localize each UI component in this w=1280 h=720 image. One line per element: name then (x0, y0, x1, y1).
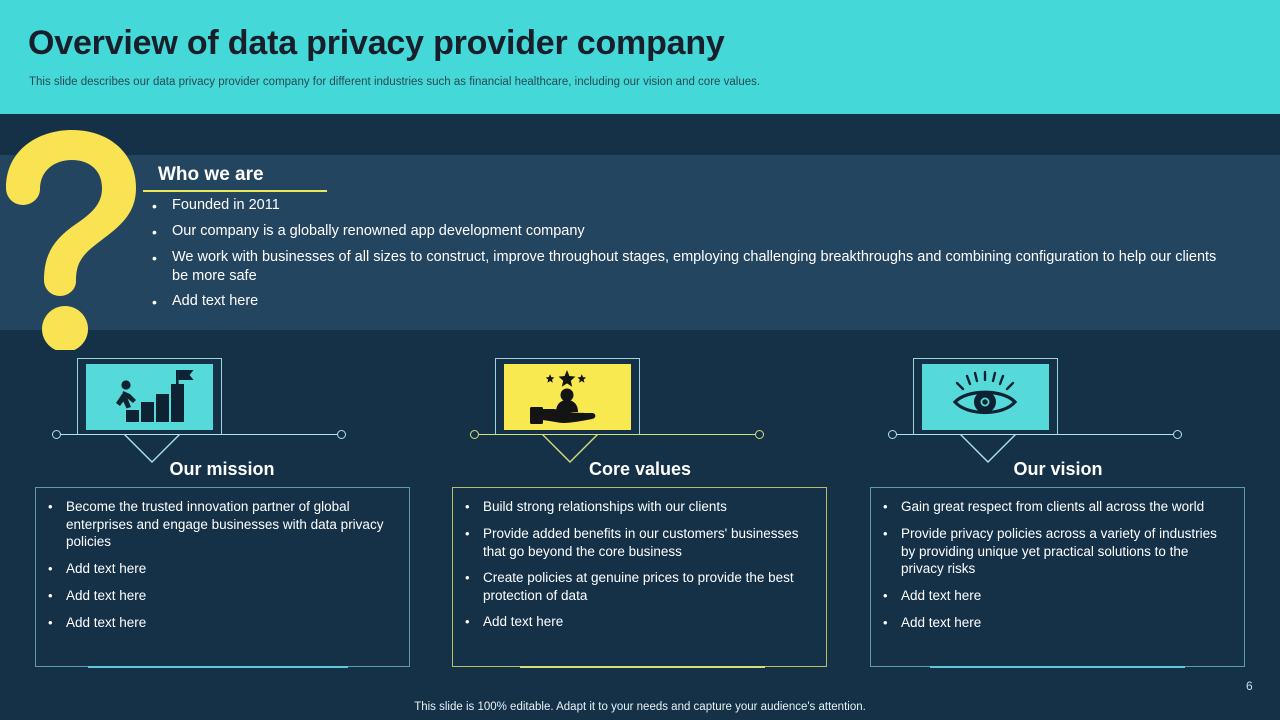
career-growth-icon (86, 364, 213, 430)
list-item: • Founded in 2011 (152, 196, 1227, 216)
who-we-are-list: • Founded in 2011 • Our company is a glo… (152, 196, 1227, 318)
footer-note: This slide is 100% editable. Adapt it to… (0, 701, 1280, 713)
vision-accent-line (930, 666, 1185, 668)
list-item: • Add text here (152, 292, 1227, 312)
rule-endcap-right (1173, 430, 1182, 439)
list-item: • Add text here (883, 614, 1230, 632)
bullet-icon: • (152, 248, 172, 268)
page-subtitle: This slide describes our data privacy pr… (29, 76, 760, 88)
list-item: • Provide privacy policies across a vari… (883, 525, 1230, 578)
list-item: • Add text here (48, 587, 395, 605)
rule-endcap-right (755, 430, 764, 439)
list-item-label: Add text here (66, 614, 146, 632)
list-item-label: Add text here (901, 587, 981, 605)
core-values-heading: Core values (470, 459, 810, 480)
list-item: • Add text here (48, 614, 395, 632)
vision-heading: Our vision (888, 459, 1228, 480)
list-item: • Build strong relationships with our cl… (465, 498, 812, 516)
list-item-label: Add text here (66, 560, 146, 578)
list-item: • Become the trusted innovation partner … (48, 498, 395, 551)
who-we-are-underline (143, 190, 327, 192)
bullet-icon: • (883, 498, 901, 516)
list-item: • Add text here (48, 560, 395, 578)
slide-header-banner: Overview of data privacy provider compan… (0, 0, 1280, 114)
list-item-label: Create policies at genuine prices to pro… (483, 569, 812, 604)
bullet-icon: • (465, 569, 483, 587)
mission-text-box: • Become the trusted innovation partner … (35, 487, 410, 667)
vision-text-box: • Gain great respect from clients all ac… (870, 487, 1245, 667)
list-item-label: We work with businesses of all sizes to … (172, 248, 1227, 286)
list-item-label: Add text here (483, 613, 563, 631)
list-item-label: Add text here (66, 587, 146, 605)
list-item-label: Build strong relationships with our clie… (483, 498, 727, 516)
bullet-icon: • (465, 525, 483, 543)
list-item-label: Our company is a globally renowned app d… (172, 222, 585, 241)
list-item-label: Provide privacy policies across a variet… (901, 525, 1230, 578)
bullet-icon: • (883, 525, 901, 543)
list-item-label: Founded in 2011 (172, 196, 280, 215)
rule-endcap-right (337, 430, 346, 439)
list-item: • Create policies at genuine prices to p… (465, 569, 812, 604)
hand-holding-person-icon (504, 364, 631, 430)
rule-endcap-left (52, 430, 61, 439)
bullet-icon: • (48, 560, 66, 578)
bullet-icon: • (152, 222, 172, 242)
list-item-label: Provide added benefits in our customers'… (483, 525, 812, 560)
list-item: • Gain great respect from clients all ac… (883, 498, 1230, 516)
who-we-are-title: Who we are (158, 164, 264, 186)
eye-icon (922, 364, 1049, 430)
list-item: • Add text here (465, 613, 812, 631)
bullet-icon: • (48, 614, 66, 632)
rule-endcap-left (470, 430, 479, 439)
bullet-icon: • (883, 614, 901, 632)
list-item-label: Gain great respect from clients all acro… (901, 498, 1204, 516)
bullet-icon: • (48, 498, 66, 516)
list-item-label: Become the trusted innovation partner of… (66, 498, 395, 551)
bullet-icon: • (465, 498, 483, 516)
mission-accent-line (88, 666, 348, 668)
list-item: • Our company is a globally renowned app… (152, 222, 1227, 242)
bullet-icon: • (48, 587, 66, 605)
bullet-icon: • (465, 613, 483, 631)
list-item: • We work with businesses of all sizes t… (152, 248, 1227, 286)
bullet-icon: • (152, 196, 172, 216)
mission-heading: Our mission (52, 459, 392, 480)
core-values-text-box: • Build strong relationships with our cl… (452, 487, 827, 667)
bullet-icon: • (152, 292, 172, 312)
rule-endcap-left (888, 430, 897, 439)
list-item-label: Add text here (172, 292, 258, 311)
list-item: • Provide added benefits in our customer… (465, 525, 812, 560)
bullet-icon: • (883, 587, 901, 605)
core-values-accent-line (520, 666, 765, 668)
page-title: Overview of data privacy provider compan… (28, 24, 725, 63)
page-number: 6 (1246, 679, 1253, 693)
list-item: • Add text here (883, 587, 1230, 605)
question-mark-icon (0, 126, 146, 350)
list-item-label: Add text here (901, 614, 981, 632)
